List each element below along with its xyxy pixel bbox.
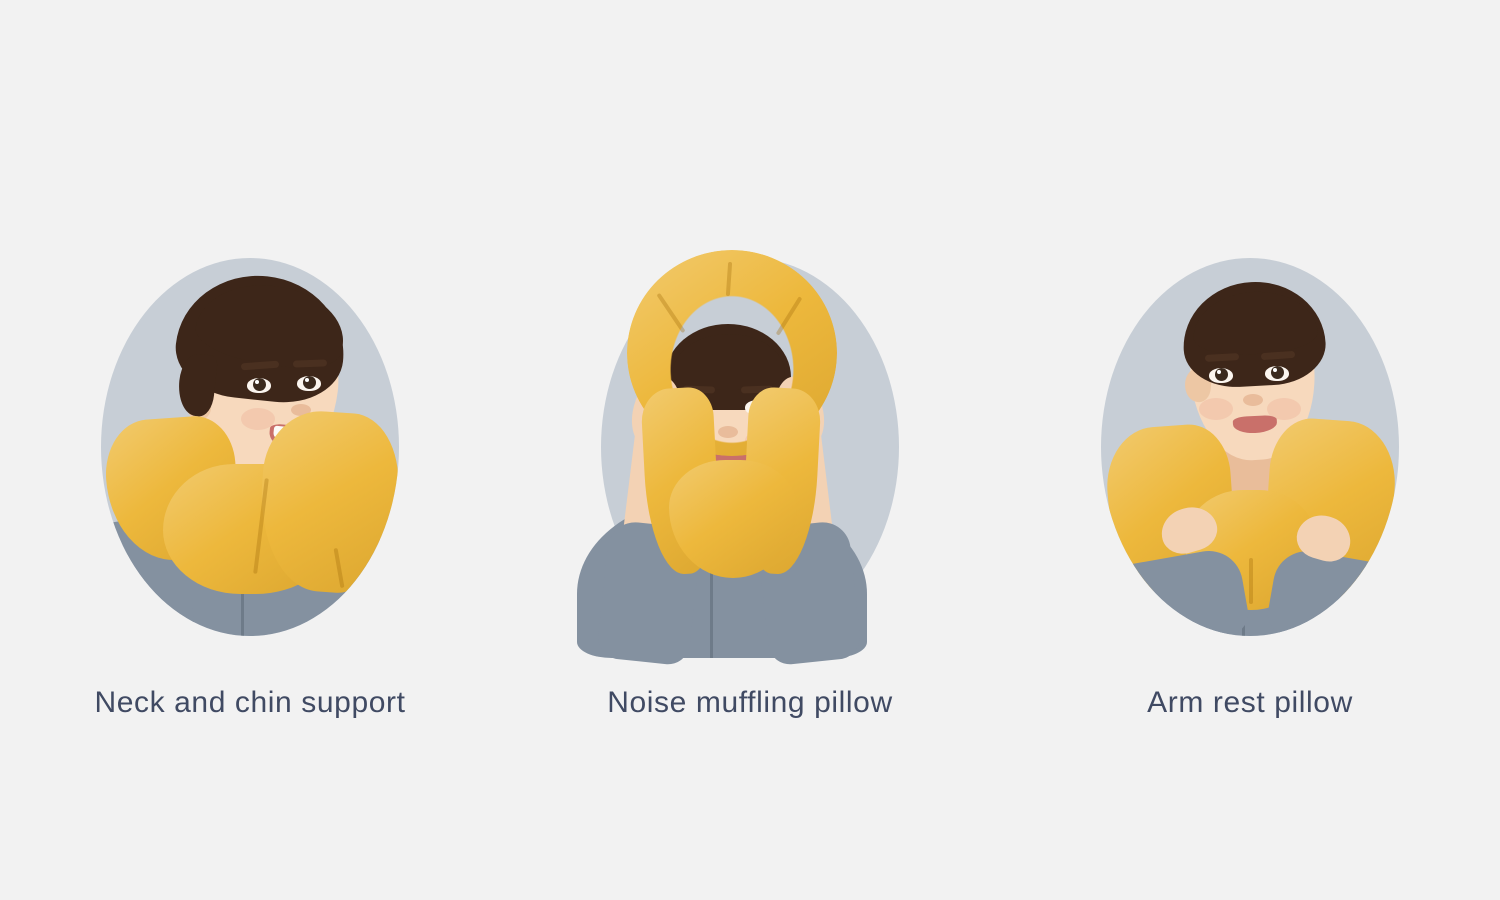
feature-panel-noise-muffling-pillow: Noise muffling pillow	[500, 0, 1000, 900]
cheek-left	[1199, 398, 1233, 420]
feature-panel-arm-rest-pillow: Arm rest pillow	[1000, 0, 1500, 900]
eye-left	[247, 378, 271, 393]
product-photo-noise-muffling-pillow	[601, 258, 899, 636]
product-photo-arm-rest-pillow	[1101, 258, 1399, 636]
eye-right	[1265, 366, 1289, 381]
panel-caption: Arm rest pillow	[1000, 688, 1500, 718]
feature-panel-board: Neck and chin support	[0, 0, 1500, 900]
photo-clip	[1101, 258, 1399, 636]
eyebrow-right	[293, 359, 327, 367]
panel-caption: Neck and chin support	[0, 688, 500, 718]
feature-panel-neck-and-chin-support: Neck and chin support	[0, 0, 500, 900]
oval-backdrop	[601, 258, 899, 636]
photo-clip	[101, 258, 399, 636]
eye-left	[1209, 368, 1233, 383]
sleeve-left	[1101, 546, 1251, 636]
panel-row: Neck and chin support	[0, 0, 1500, 900]
nose	[1243, 394, 1263, 406]
pillow-seam	[1249, 558, 1253, 604]
panel-caption: Noise muffling pillow	[500, 688, 1000, 718]
eye-right	[297, 376, 321, 391]
product-photo-neck-and-chin-support	[101, 258, 399, 636]
